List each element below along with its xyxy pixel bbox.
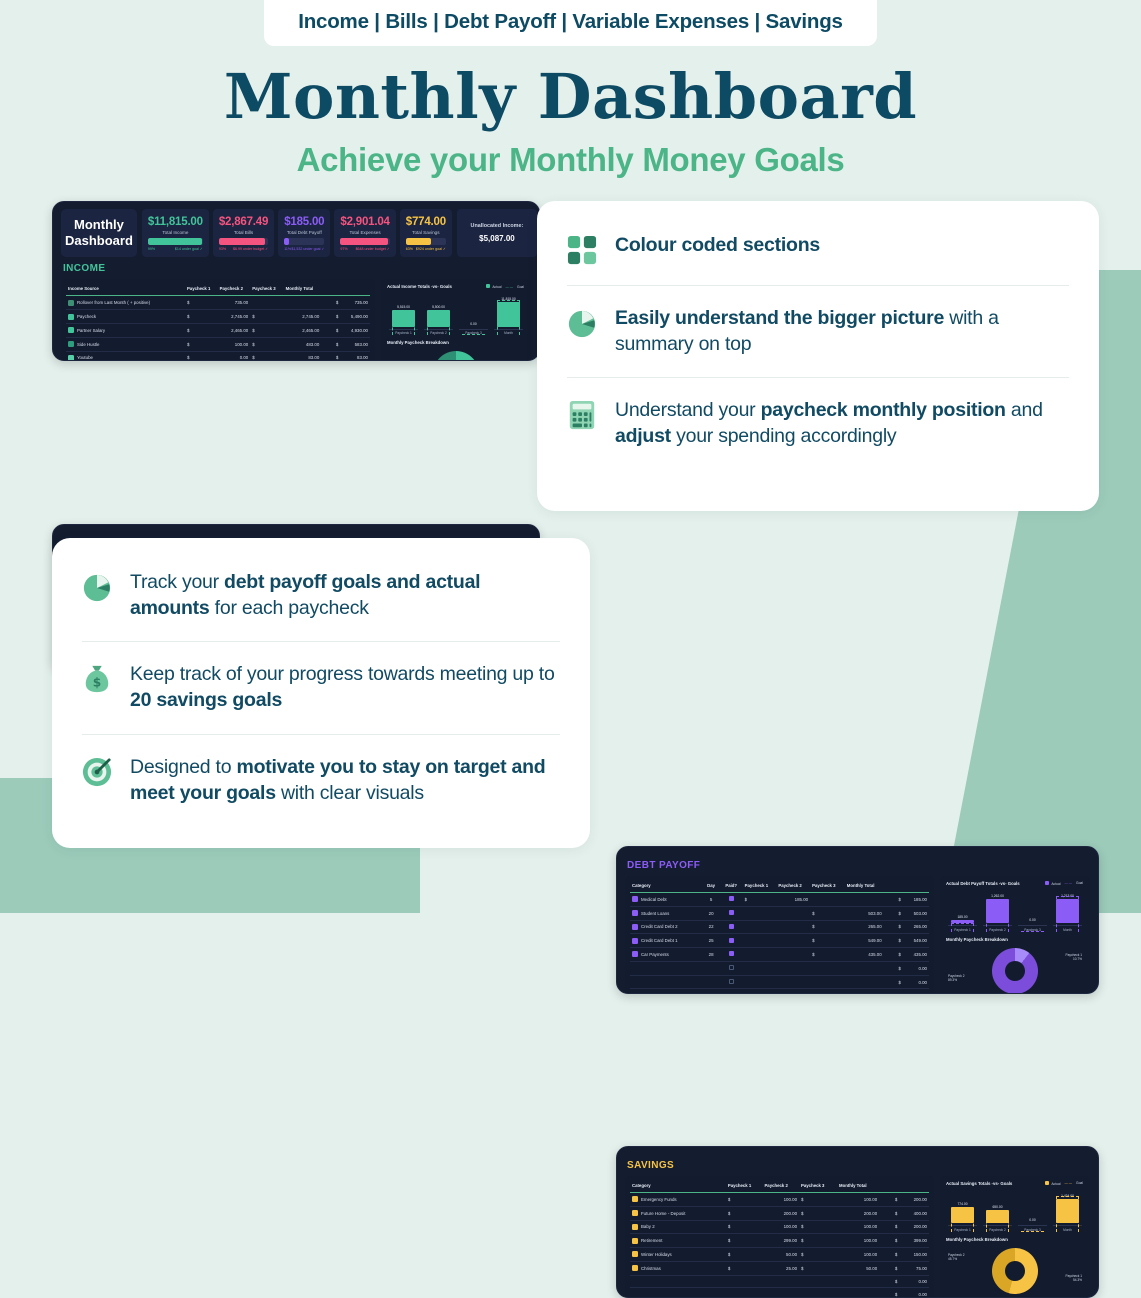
category-icon xyxy=(632,1251,638,1257)
goal-outline xyxy=(951,923,974,932)
category-icon xyxy=(632,1265,638,1271)
row-label: Student Loans xyxy=(630,906,702,920)
feature-row-1: Easily understand the bigger picture wit… xyxy=(567,285,1069,377)
column-header: Paycheck 1 xyxy=(726,1180,753,1193)
currency-symbol: $ xyxy=(185,296,212,310)
bar-value-label: 0.00 xyxy=(1029,1218,1035,1222)
currency-symbol: $ xyxy=(810,948,837,962)
category-icon xyxy=(632,938,638,944)
currency-symbol xyxy=(884,948,891,962)
savings-bar-chart: 774.00Paycheck 1650.00Paycheck 20.00Payc… xyxy=(946,1188,1084,1232)
table-row[interactable]: Paycheck$2,745.00$2,745.00$5,490.00 xyxy=(66,310,370,324)
currency-symbol: $ xyxy=(893,1261,900,1275)
currency-symbol: $ xyxy=(250,337,277,351)
amount-total: 200.00 xyxy=(900,1192,929,1206)
savings-panel[interactable]: SAVINGS CategoryPaycheck 1Paycheck 2Payc… xyxy=(616,1146,1099,1298)
row-paid[interactable] xyxy=(720,920,743,934)
amount-p1: 25.00 xyxy=(753,1261,799,1275)
column-header: Paycheck 1 xyxy=(743,880,770,893)
bar-value-label: 5,515.00 xyxy=(397,305,410,309)
row-label: Future Home - Deposit xyxy=(630,1206,726,1220)
table-row[interactable]: Partner Salary$2,465.00$2,465.00$4,930.0… xyxy=(66,324,370,338)
goal-outline xyxy=(497,300,520,336)
bar-value-label: 0.00 xyxy=(470,322,476,326)
debt-section-title: DEBT PAYOFF xyxy=(627,860,1090,871)
amount-p2: 100.00 xyxy=(826,1234,879,1248)
kpi-value: $11,815.00 xyxy=(148,216,203,228)
unallocated-income-card: Unallocated Income: $5,087.00 xyxy=(457,209,537,258)
currency-symbol: $ xyxy=(799,1192,826,1206)
page-subtitle: Achieve your Monthly Money Goals xyxy=(0,141,1141,179)
savings-chart-legend: Actual — — Goal xyxy=(1045,1181,1083,1186)
table-row[interactable]: Youtube$0.00$83.00$83.00 xyxy=(66,351,370,361)
currency-symbol xyxy=(799,1288,826,1298)
table-row[interactable]: $0.00 xyxy=(630,1288,929,1298)
kpi-label: Total Expenses xyxy=(340,230,389,235)
row-paid[interactable] xyxy=(720,906,743,920)
currency-symbol: $ xyxy=(185,324,212,338)
row-label: Medical Debt xyxy=(630,892,702,906)
income-chart-column: Actual Income Totals -vs- Goals Actual —… xyxy=(381,279,531,361)
currency-symbol: $ xyxy=(893,1192,900,1206)
amount-p2 xyxy=(826,1288,879,1298)
kpi-card-4: $774.00Total Savings63%$924 under goal ✓ xyxy=(400,209,452,258)
amount-total: 0.00 xyxy=(900,1288,929,1298)
currency-symbol xyxy=(743,934,770,948)
kpi-note: $924 under goal ✓ xyxy=(416,247,446,251)
column-header: Monthly Total xyxy=(826,1180,879,1193)
income-table-header: Income SourcePaycheck 1Paycheck 2Paychec… xyxy=(66,283,370,296)
currency-symbol xyxy=(810,892,837,906)
amount-p1 xyxy=(753,1275,799,1288)
column-header: Paid? xyxy=(720,880,743,893)
kpi-list: $11,815.00Total Income99%$14 under goal … xyxy=(142,209,452,258)
currency-symbol: $ xyxy=(810,934,837,948)
currency-symbol: $ xyxy=(799,1234,826,1248)
kpi-percent: 11% xyxy=(284,247,291,251)
table-row[interactable]: Winter Holidays$50.00$100.00$150.00 xyxy=(630,1248,929,1262)
column-header: Day xyxy=(702,880,719,893)
amount-p1: 2,745.00 xyxy=(212,310,250,324)
currency-symbol: $ xyxy=(334,296,341,310)
row-paid[interactable] xyxy=(720,934,743,948)
currency-symbol: $ xyxy=(185,310,212,324)
monthly-dashboard-panel[interactable]: Monthly Dashboard $11,815.00Total Income… xyxy=(52,201,540,361)
currency-symbol xyxy=(743,989,770,994)
amount-total: 400.00 xyxy=(900,1206,929,1220)
currency-symbol xyxy=(879,1234,886,1248)
features-card-left: Track your debt payoff goals and actual … xyxy=(52,538,590,848)
category-icon xyxy=(632,896,638,902)
amount-total: 0.00 xyxy=(900,1275,929,1288)
currency-symbol xyxy=(884,892,891,906)
currency-symbol: $ xyxy=(185,337,212,351)
goal-outline xyxy=(1056,896,1079,932)
amount-p1 xyxy=(753,1288,799,1298)
currency-symbol: $ xyxy=(799,1261,826,1275)
currency-symbol: $ xyxy=(799,1220,826,1234)
debt-donut-title: Monthly Paycheck Breakdown xyxy=(946,937,1084,942)
currency-symbol xyxy=(879,1206,886,1220)
column-header: Category xyxy=(630,1180,726,1193)
currency-symbol xyxy=(810,989,837,994)
row-label xyxy=(630,989,702,994)
row-label xyxy=(630,1288,726,1298)
bar-value-label: 774.00 xyxy=(957,1202,967,1206)
currency-symbol: $ xyxy=(250,351,277,361)
row-paid[interactable] xyxy=(720,948,743,962)
amount-p1 xyxy=(770,961,810,975)
currency-symbol: $ xyxy=(799,1206,826,1220)
feature-row-0: Track your debt payoff goals and actual … xyxy=(82,564,560,641)
currency-symbol xyxy=(879,1248,886,1262)
amount-p3 xyxy=(886,1192,893,1206)
table-row[interactable]: Emergency Funds$100.00$100.00$200.00 xyxy=(630,1192,929,1206)
income-chart-legend: Actual — — Goal xyxy=(486,284,524,289)
goal-outline xyxy=(1021,931,1044,932)
debt-table-body: Medical Debt5$185.00$185.00Student Loans… xyxy=(630,892,929,994)
feature-text: Track your debt payoff goals and actual … xyxy=(130,570,560,621)
target-icon xyxy=(82,757,112,787)
kpi-note: $6.99 under budget ✓ xyxy=(233,247,268,251)
amount-p1 xyxy=(770,948,810,962)
amount-total: 735.00 xyxy=(341,296,370,310)
savings-donut-label-p2: Paycheck 245.7% xyxy=(948,1253,964,1262)
amount-p1 xyxy=(770,920,810,934)
bar-value-label: 5,500.00 xyxy=(432,305,445,309)
currency-symbol: $ xyxy=(897,934,904,948)
row-label: Credit Card Debt 1 xyxy=(630,934,702,948)
table-row[interactable]: Future Home - Deposit$200.00$200.00$400.… xyxy=(630,1206,929,1220)
row-day: 5 xyxy=(702,892,719,906)
debt-table-header: CategoryDayPaid?Paycheck 1Paycheck 2Payc… xyxy=(630,880,929,893)
nav-label[interactable]: Income | Bills | Debt Payoff | Variable … xyxy=(264,0,877,46)
income-table-body: Rollover from Last Month ( + positive)$7… xyxy=(66,296,370,361)
amount-p3 xyxy=(886,1234,893,1248)
kpi-progress-bar xyxy=(406,238,446,245)
goal-outline xyxy=(986,1216,1009,1232)
kpi-value: $2,867.49 xyxy=(219,216,268,228)
table-row[interactable]: Side Hustle$100.00$483.00$583.00 xyxy=(66,337,370,351)
amount-total: 265.00 xyxy=(904,920,930,934)
amount-total: 5,490.00 xyxy=(341,310,370,324)
row-label: Youtube xyxy=(66,351,185,361)
amount-p2: 265.00 xyxy=(838,920,884,934)
row-paid[interactable] xyxy=(720,975,743,989)
currency-symbol: $ xyxy=(726,1206,753,1220)
feature-row-1: $Keep track of your progress towards mee… xyxy=(82,641,560,733)
kpi-note: $1,532 under goal ✓ xyxy=(291,247,324,251)
dashboard-logo: Monthly Dashboard xyxy=(61,209,137,258)
currency-symbol xyxy=(879,1288,886,1298)
currency-symbol: $ xyxy=(897,920,904,934)
currency-symbol xyxy=(884,961,891,975)
debt-donut-label-p1: Paycheck 110.7% xyxy=(1066,953,1082,962)
currency-symbol xyxy=(743,920,770,934)
bar-group: 650.00Paycheck 2 xyxy=(983,1194,1012,1232)
features-card-right: Colour coded sectionsEasily understand t… xyxy=(537,201,1099,511)
income-bar-chart: 5,515.00Paycheck 15,500.00Paycheck 20.00… xyxy=(387,291,525,335)
income-table-container[interactable]: Income SourcePaycheck 1Paycheck 2Paychec… xyxy=(61,279,375,361)
category-icon xyxy=(632,910,638,916)
currency-symbol: $ xyxy=(185,351,212,361)
amount-p2: 2,465.00 xyxy=(278,324,322,338)
savings-section-title: SAVINGS xyxy=(627,1160,1090,1171)
table-row[interactable]: Medical Debt5$185.00$185.00 xyxy=(630,892,929,906)
amount-p1: 100.00 xyxy=(753,1192,799,1206)
currency-symbol: $ xyxy=(810,920,837,934)
row-label xyxy=(630,975,702,989)
bar-value-label: 185.00 xyxy=(957,915,967,919)
amount-p2: 435.00 xyxy=(838,948,884,962)
amount-p2: 483.00 xyxy=(278,337,322,351)
currency-symbol: $ xyxy=(897,906,904,920)
amount-p3 xyxy=(886,1275,893,1288)
amount-p3 xyxy=(886,1220,893,1234)
row-day xyxy=(702,961,719,975)
amount-p1: 185.00 xyxy=(770,892,810,906)
calculator-icon xyxy=(567,400,597,430)
row-label: Rollover from Last Month ( + positive) xyxy=(66,296,185,310)
currency-symbol xyxy=(743,961,770,975)
currency-symbol: $ xyxy=(250,324,277,338)
income-donut-chart xyxy=(387,348,525,361)
kpi-progress-bar xyxy=(148,238,203,245)
column-header: Monthly Total xyxy=(838,880,884,893)
row-day: 28 xyxy=(702,948,719,962)
table-row[interactable]: $0.00 xyxy=(630,961,929,975)
currency-symbol xyxy=(879,1220,886,1234)
amount-p2 xyxy=(838,892,884,906)
pie-chart-icon xyxy=(567,308,597,338)
goal-outline xyxy=(427,318,450,336)
bar-group: 0.00Paycheck 3 xyxy=(459,297,488,335)
amount-total: 185.00 xyxy=(904,892,930,906)
bar-group: 5,500.00Paycheck 2 xyxy=(424,297,453,335)
kpi-percent: 97% xyxy=(340,247,347,251)
row-label: Christmas xyxy=(630,1261,726,1275)
category-icon xyxy=(68,300,74,306)
currency-symbol xyxy=(743,948,770,962)
kpi-note: $648 under budget ✓ xyxy=(356,247,390,251)
kpi-progress-bar xyxy=(340,238,389,245)
table-row[interactable]: Credit Card Debt 222$265.00$265.00 xyxy=(630,920,929,934)
amount-p3 xyxy=(886,1206,893,1220)
hero-section: Monthly Dashboard Achieve your Monthly M… xyxy=(0,64,1141,179)
currency-symbol: $ xyxy=(897,948,904,962)
savings-donut-title: Monthly Paycheck Breakdown xyxy=(946,1237,1084,1242)
currency-symbol xyxy=(743,975,770,989)
table-row[interactable]: $0.00 xyxy=(630,989,929,994)
currency-symbol: $ xyxy=(893,1288,900,1298)
currency-symbol: $ xyxy=(893,1275,900,1288)
debt-payoff-panel[interactable]: DEBT PAYOFF CategoryDayPaid?Paycheck 1Pa… xyxy=(616,846,1099,994)
currency-symbol: $ xyxy=(810,906,837,920)
amount-p1: 299.00 xyxy=(753,1234,799,1248)
category-icon xyxy=(632,1224,638,1230)
currency-symbol xyxy=(884,975,891,989)
savings-chart-column: Actual Savings Totals -vs- Goals Actual … xyxy=(940,1176,1090,1298)
currency-symbol xyxy=(810,961,837,975)
goal-outline xyxy=(1021,1231,1044,1232)
unallocated-value: $5,087.00 xyxy=(461,234,533,243)
table-row[interactable]: Credit Card Debt 125$549.00$549.00 xyxy=(630,934,929,948)
row-paid[interactable] xyxy=(720,989,743,994)
table-row[interactable]: Baby 2$100.00$100.00$200.00 xyxy=(630,1220,929,1234)
table-row[interactable]: Rollover from Last Month ( + positive)$7… xyxy=(66,296,370,310)
currency-symbol: $ xyxy=(893,1248,900,1262)
feature-row-2: Understand your paycheck monthly positio… xyxy=(567,377,1069,455)
amount-p2 xyxy=(838,961,884,975)
amount-p1: 2,465.00 xyxy=(212,324,250,338)
currency-symbol: $ xyxy=(897,892,904,906)
row-label: Baby 2 xyxy=(630,1220,726,1234)
savings-donut-chart: Paycheck 245.7% Paycheck 154.3% xyxy=(946,1245,1084,1297)
amount-p2: 100.00 xyxy=(826,1248,879,1262)
table-row[interactable]: Christmas$25.00$50.00$75.00 xyxy=(630,1261,929,1275)
bar-group: 774.00Paycheck 1 xyxy=(948,1194,977,1232)
currency-symbol: $ xyxy=(726,1234,753,1248)
goal-outline xyxy=(951,1213,974,1232)
row-paid[interactable] xyxy=(720,961,743,975)
table-row[interactable]: Student Loans20$503.00$503.00 xyxy=(630,906,929,920)
bar-group: 11,815.00Month xyxy=(494,297,523,335)
goal-outline xyxy=(462,334,485,335)
grid-squares-icon xyxy=(567,235,597,265)
currency-symbol: $ xyxy=(897,975,904,989)
feature-row-2: Designed to motivate you to stay on targ… xyxy=(82,734,560,812)
amount-p2: 2,745.00 xyxy=(278,310,322,324)
row-label xyxy=(630,1275,726,1288)
feature-text: Understand your paycheck monthly positio… xyxy=(615,398,1069,449)
column-header: Paycheck 2 xyxy=(212,283,250,296)
kpi-value: $2,901.04 xyxy=(340,216,389,228)
savings-table-header: CategoryPaycheck 1Paycheck 2Paycheck 3Mo… xyxy=(630,1180,929,1193)
currency-symbol: $ xyxy=(897,989,904,994)
row-day: 20 xyxy=(702,906,719,920)
column-header: Paycheck 3 xyxy=(799,1180,826,1193)
kpi-percent: 93% xyxy=(219,247,226,251)
debt-chart-legend: Actual — — Goal xyxy=(1045,881,1083,886)
kpi-percent: 99% xyxy=(148,247,155,251)
bar-group: 1,424.00Month xyxy=(1053,1194,1082,1232)
amount-p2: 100.00 xyxy=(826,1220,879,1234)
amount-p1 xyxy=(770,975,810,989)
currency-symbol xyxy=(250,296,277,310)
currency-symbol: $ xyxy=(799,1248,826,1262)
amount-p2: 549.00 xyxy=(838,934,884,948)
amount-p1 xyxy=(770,989,810,994)
amount-total: 435.00 xyxy=(904,948,930,962)
row-day xyxy=(702,975,719,989)
kpi-value: $185.00 xyxy=(284,216,324,228)
debt-table-container[interactable]: CategoryDayPaid?Paycheck 1Paycheck 2Payc… xyxy=(625,876,934,994)
amount-p2: 100.00 xyxy=(826,1192,879,1206)
amount-p2 xyxy=(838,975,884,989)
savings-table: CategoryPaycheck 1Paycheck 2Paycheck 3Mo… xyxy=(630,1180,929,1298)
row-label: Winter Holidays xyxy=(630,1248,726,1262)
amount-p1: 50.00 xyxy=(753,1248,799,1262)
income-table: Income SourcePaycheck 1Paycheck 2Paychec… xyxy=(66,283,370,361)
row-label xyxy=(630,961,702,975)
amount-p2 xyxy=(826,1275,879,1288)
kpi-label: Total Debt Payoff xyxy=(284,230,324,235)
currency-symbol xyxy=(879,1275,886,1288)
category-icon xyxy=(68,314,74,320)
table-row[interactable]: $0.00 xyxy=(630,1275,929,1288)
bar-value-label: 0.00 xyxy=(1029,918,1035,922)
content-stage: Monthly Dashboard $11,815.00Total Income… xyxy=(0,201,1141,808)
currency-symbol: $ xyxy=(893,1234,900,1248)
row-paid[interactable] xyxy=(720,892,743,906)
currency-symbol: $ xyxy=(893,1206,900,1220)
savings-table-container[interactable]: CategoryPaycheck 1Paycheck 2Paycheck 3Mo… xyxy=(625,1176,934,1298)
kpi-card-3: $2,901.04Total Expenses97%$648 under bud… xyxy=(334,209,395,258)
kpi-card-2: $185.00Total Debt Payoff11%$1,532 under … xyxy=(278,209,330,258)
currency-symbol: $ xyxy=(726,1192,753,1206)
goal-outline xyxy=(1056,1196,1079,1232)
unallocated-label: Unallocated Income: xyxy=(461,223,533,230)
currency-symbol: $ xyxy=(893,1220,900,1234)
column-header: Paycheck 3 xyxy=(810,880,837,893)
currency-symbol xyxy=(321,337,328,351)
amount-p2: 503.00 xyxy=(838,906,884,920)
row-day: 25 xyxy=(702,934,719,948)
amount-p2 xyxy=(838,989,884,994)
bar-value-label: 650.00 xyxy=(992,1205,1002,1209)
currency-symbol: $ xyxy=(726,1261,753,1275)
currency-symbol xyxy=(321,310,328,324)
amount-p1: 200.00 xyxy=(753,1206,799,1220)
amount-total: 0.00 xyxy=(904,975,930,989)
amount-p1: 100.00 xyxy=(212,337,250,351)
amount-total: 4,930.00 xyxy=(341,324,370,338)
currency-symbol: $ xyxy=(726,1248,753,1262)
bar-group: 0.00Paycheck 3 xyxy=(1018,1194,1047,1232)
row-label: Credit Card Debt 2 xyxy=(630,920,702,934)
amount-total: 549.00 xyxy=(904,934,930,948)
kpi-header-row: Monthly Dashboard $11,815.00Total Income… xyxy=(61,209,531,258)
pie-chart-icon xyxy=(82,572,112,602)
row-day: 22 xyxy=(702,920,719,934)
savings-table-body: Emergency Funds$100.00$100.00$200.00Futu… xyxy=(630,1192,929,1298)
currency-symbol xyxy=(879,1261,886,1275)
row-label: Paycheck xyxy=(66,310,185,324)
goal-outline xyxy=(392,318,415,336)
currency-symbol xyxy=(321,324,328,338)
amount-total: 0.00 xyxy=(904,989,930,994)
currency-symbol: $ xyxy=(334,310,341,324)
currency-symbol xyxy=(321,351,328,361)
currency-symbol xyxy=(726,1275,753,1288)
table-row[interactable]: Retirement$299.00$100.00$399.00 xyxy=(630,1234,929,1248)
row-label: Retirement xyxy=(630,1234,726,1248)
table-row[interactable]: $0.00 xyxy=(630,975,929,989)
feature-text: Easily understand the bigger picture wit… xyxy=(615,306,1069,357)
table-row[interactable]: Car Payments28$435.00$435.00 xyxy=(630,948,929,962)
row-label: Partner Salary xyxy=(66,324,185,338)
kpi-progress-bar xyxy=(284,238,324,245)
amount-total: 503.00 xyxy=(904,906,930,920)
savings-donut-label-p1: Paycheck 154.3% xyxy=(1066,1274,1082,1283)
amount-p2 xyxy=(278,296,322,310)
income-donut-title: Monthly Paycheck Breakdown xyxy=(387,340,525,345)
currency-symbol: $ xyxy=(250,310,277,324)
currency-symbol xyxy=(879,1192,886,1206)
money-bag-icon: $ xyxy=(82,664,112,694)
category-icon xyxy=(632,924,638,930)
row-label: Emergency Funds xyxy=(630,1192,726,1206)
